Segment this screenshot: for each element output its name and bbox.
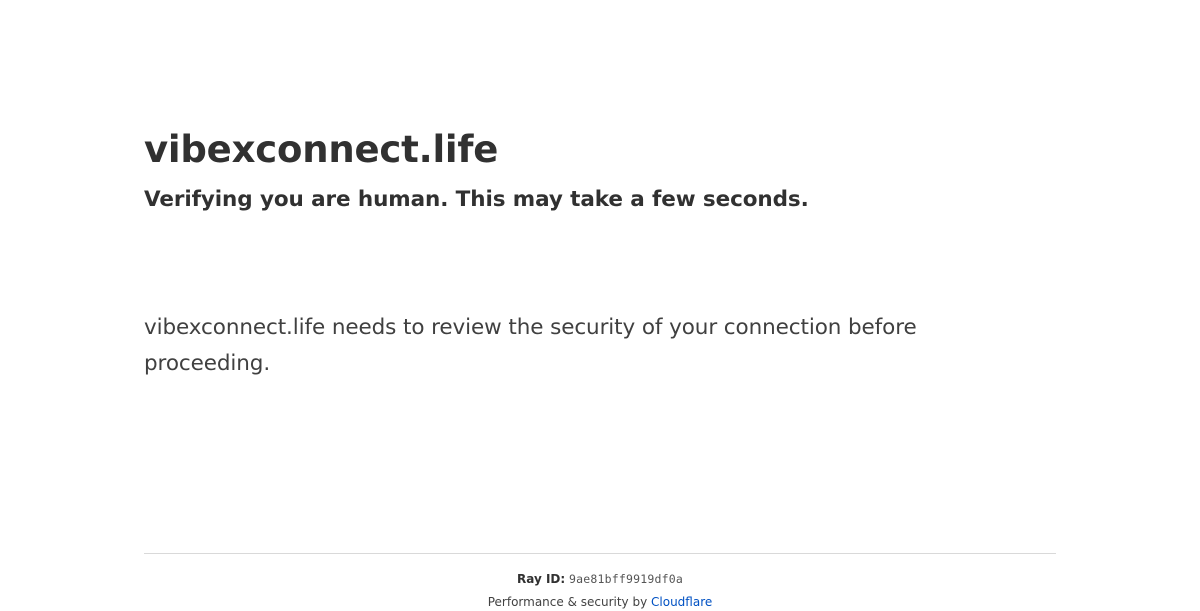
- page-title: vibexconnect.life: [144, 128, 1056, 172]
- footer: Ray ID: 9ae81bff9919df0a Performance & s…: [144, 553, 1056, 611]
- cloudflare-link[interactable]: Cloudflare: [651, 595, 712, 609]
- challenge-widget-container[interactable]: [144, 232, 464, 310]
- verification-status-text: Verifying you are human. This may take a…: [144, 186, 1056, 214]
- ray-id-row: Ray ID: 9ae81bff9919df0a: [144, 554, 1056, 588]
- ray-id-value: 9ae81bff9919df0a: [569, 572, 683, 586]
- attribution-text: Performance & security by: [488, 595, 651, 609]
- challenge-page: vibexconnect.life Verifying you are huma…: [0, 0, 1200, 600]
- content-column: vibexconnect.life Verifying you are huma…: [144, 0, 1056, 600]
- ray-id-label: Ray ID:: [517, 572, 565, 586]
- security-review-description: vibexconnect.life needs to review the se…: [144, 310, 944, 382]
- main-content: vibexconnect.life Verifying you are huma…: [144, 128, 1056, 382]
